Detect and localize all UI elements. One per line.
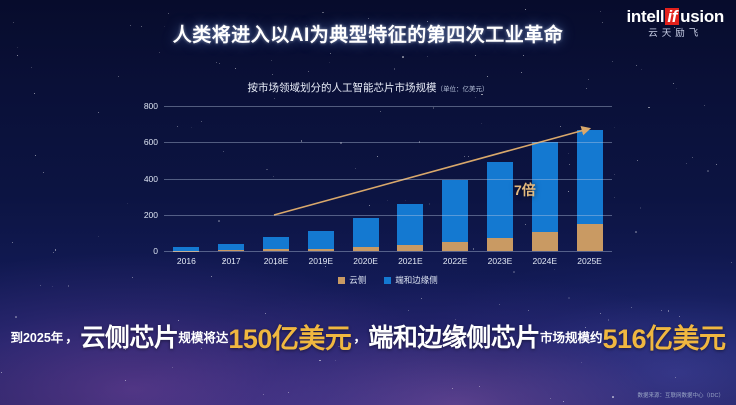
star-dot: [34, 93, 35, 94]
star-dot: [716, 164, 717, 165]
star-dot: [17, 47, 18, 48]
star-dot: [635, 231, 637, 233]
banner-comma-2: ，: [351, 327, 368, 346]
bar-segment-edge: [308, 231, 334, 248]
bar-segment-edge: [353, 218, 379, 247]
legend-swatch: [384, 277, 391, 284]
chart-y-tick-label: 800: [144, 101, 158, 111]
chart-legend: 云侧端和边缘侧: [164, 274, 612, 286]
star-dot: [675, 377, 676, 378]
chart-title: 按市场领域划分的人工智能芯片市场规模（单位：亿美元）: [118, 80, 618, 95]
star-dot: [98, 112, 99, 113]
star-dot: [68, 285, 70, 287]
star-dot: [668, 310, 670, 312]
chart-x-tick-2021E: 2021E: [389, 256, 431, 266]
star-dot: [452, 388, 453, 389]
chart-x-tick-2023E: 2023E: [479, 256, 521, 266]
chart-gridline: 800: [164, 106, 612, 107]
chart-title-text: 按市场领域划分的人工智能芯片市场规模: [248, 82, 437, 94]
star-dot: [288, 392, 289, 393]
legend-label: 云侧: [349, 274, 366, 286]
star-dot: [322, 12, 324, 14]
star-dot: [394, 68, 396, 70]
star-dot: [661, 310, 662, 311]
star-dot: [219, 63, 220, 64]
star-dot: [265, 313, 266, 314]
star-dot: [475, 55, 476, 56]
star-dot: [631, 307, 632, 308]
star-dot: [319, 360, 321, 362]
star-dot: [479, 386, 480, 387]
star-dot: [402, 56, 404, 58]
chart-gridline: 600: [164, 142, 612, 143]
star-dot: [40, 285, 41, 286]
star-dot: [648, 107, 650, 109]
bar-segment-cloud: [532, 232, 558, 251]
chart-x-tick-2024E: 2024E: [524, 256, 566, 266]
star-dot: [421, 298, 422, 299]
star-dot: [600, 313, 601, 314]
star-dot: [568, 297, 570, 299]
chart-x-tick-2020E: 2020E: [345, 256, 387, 266]
banner-comma-1: ，: [63, 327, 80, 346]
bar-segment-cloud: [487, 238, 513, 251]
bar-segment-cloud: [442, 242, 468, 251]
banner-value-edge: 516亿美元: [602, 317, 725, 356]
star-dot: [640, 207, 642, 209]
star-dot: [612, 61, 613, 62]
bar-segment-edge: [442, 180, 468, 241]
star-dot: [686, 163, 688, 165]
chart-x-tick-2018E: 2018E: [255, 256, 297, 266]
star-dot: [487, 76, 488, 77]
star-dot: [707, 170, 709, 172]
legend-item-edge[interactable]: 端和边缘侧: [384, 274, 438, 286]
star-dot: [637, 160, 638, 161]
star-dot: [581, 362, 582, 363]
star-dot: [550, 398, 551, 399]
star-dot: [499, 304, 500, 305]
star-dot: [168, 13, 169, 14]
star-dot: [43, 172, 44, 173]
star-dot: [1, 372, 2, 373]
star-dot: [271, 60, 272, 61]
chart-x-tick-2025E: 2025E: [569, 256, 611, 266]
banner-term-cloud-chip: 云侧芯片: [80, 318, 178, 354]
star-dot: [35, 155, 36, 156]
bar-segment-edge: [577, 130, 603, 224]
star-dot: [12, 242, 13, 243]
bar-segment-edge: [397, 204, 423, 245]
chart-x-tick-2017: 2017: [210, 256, 252, 266]
chart-gridline: 0: [164, 251, 612, 252]
star-dot: [118, 76, 119, 77]
star-dot: [159, 52, 160, 53]
star-dot: [408, 310, 409, 311]
chart-x-tick-2016: 2016: [165, 256, 207, 266]
trendline-multiplier-label: 7倍: [514, 180, 536, 200]
summary-banner: 到2025年 ， 云侧芯片 规模将达 150亿美元 ， 端和边缘侧芯片 市场规模…: [0, 316, 736, 356]
star-dot: [17, 55, 18, 56]
star-dot: [676, 88, 677, 89]
star-dot: [52, 286, 53, 287]
star-dot: [521, 72, 522, 73]
chart-unit-label: （单位：亿美元）: [437, 86, 489, 93]
star-dot: [308, 71, 309, 72]
star-dot: [263, 394, 264, 395]
data-source-note: 数据来源：互联网数据中心（IDC）: [638, 391, 724, 399]
star-dot: [731, 262, 732, 263]
star-dot: [641, 69, 642, 70]
chart-container: 按市场领域划分的人工智能芯片市场规模（单位：亿美元） 0200400600800…: [118, 80, 618, 295]
star-dot: [427, 56, 428, 57]
banner-prefix: 到2025年: [10, 327, 63, 346]
banner-mid-2: 市场规模约: [540, 327, 603, 346]
legend-label: 端和边缘侧: [395, 274, 438, 286]
star-dot: [31, 67, 32, 68]
chart-y-tick-label: 400: [144, 174, 158, 184]
star-dot: [612, 396, 614, 398]
star-dot: [53, 252, 54, 253]
star-dot: [330, 53, 331, 54]
star-dot: [172, 367, 173, 368]
chart-plot-area: 0200400600800: [164, 106, 612, 251]
star-dot: [368, 18, 369, 19]
star-dot: [704, 105, 705, 106]
chart-gridline: 200: [164, 215, 612, 216]
star-dot: [216, 62, 217, 63]
bar-segment-edge: [263, 237, 289, 249]
star-dot: [335, 360, 336, 361]
star-dot: [600, 11, 601, 12]
star-dot: [125, 380, 126, 381]
chart-y-tick-label: 200: [144, 210, 158, 220]
chart-gridline: 400: [164, 179, 612, 180]
slide-canvas: intellifusion 云天励飞 人类将进入以AI为典型特征的第四次工业革命…: [0, 0, 736, 405]
legend-item-cloud[interactable]: 云侧: [338, 274, 366, 286]
star-dot: [55, 249, 57, 251]
chart-x-tick-2022E: 2022E: [434, 256, 476, 266]
bar-segment-edge: [487, 162, 513, 237]
banner-mid-1: 规模将达: [178, 327, 228, 346]
page-title: 人类将进入以AI为典型特征的第四次工业革命: [0, 20, 736, 47]
chart-y-tick-label: 600: [144, 137, 158, 147]
star-dot: [528, 310, 529, 311]
banner-value-cloud: 150亿美元: [228, 317, 351, 356]
star-dot: [692, 157, 693, 158]
star-dot: [523, 55, 524, 56]
star-dot: [563, 401, 564, 402]
chart-x-tick-2019E: 2019E: [300, 256, 342, 266]
chart-y-tick-label: 0: [153, 246, 158, 256]
chart-x-axis: 201620172018E2019E2020E2021E2022E2023E20…: [164, 256, 612, 266]
banner-term-edge-chip: 端和边缘侧芯片: [368, 318, 540, 354]
star-dot: [329, 62, 330, 63]
star-dot: [673, 83, 674, 84]
bar-segment-cloud: [577, 224, 603, 251]
star-dot: [272, 74, 273, 75]
star-dot: [636, 65, 637, 66]
star-dot: [525, 9, 526, 10]
legend-swatch: [338, 277, 345, 284]
star-dot: [98, 236, 99, 237]
star-dot: [235, 68, 236, 69]
